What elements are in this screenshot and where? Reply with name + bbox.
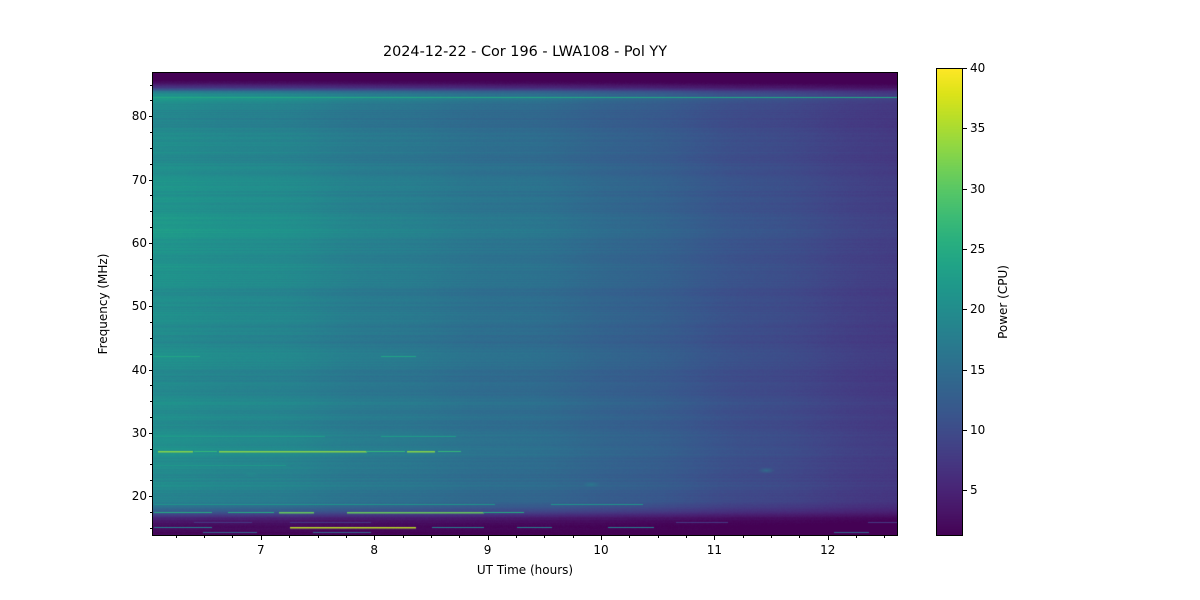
x-minor-tick bbox=[459, 536, 460, 538]
x-tick-label: 11 bbox=[707, 543, 722, 557]
colorbar-tick-mark bbox=[963, 128, 967, 129]
x-minor-tick bbox=[232, 536, 233, 538]
colorbar-tick-mark bbox=[963, 249, 967, 250]
x-minor-tick bbox=[573, 536, 574, 538]
colorbar-tick-mark bbox=[963, 490, 967, 491]
x-minor-tick bbox=[743, 536, 744, 538]
page-title: 2024-12-22 - Cor 196 - LWA108 - Pol YY bbox=[152, 44, 898, 60]
colorbar-tick-label: 5 bbox=[970, 483, 978, 497]
colorbar-tick-label: 30 bbox=[970, 182, 985, 196]
x-minor-tick bbox=[403, 536, 404, 538]
x-axis-label: UT Time (hours) bbox=[152, 563, 898, 577]
x-minor-tick bbox=[884, 536, 885, 538]
colorbar-tick-label: 40 bbox=[970, 61, 985, 75]
x-minor-tick bbox=[318, 536, 319, 538]
x-tick-mark bbox=[374, 536, 375, 540]
x-minor-tick bbox=[544, 536, 545, 538]
x-minor-tick bbox=[204, 536, 205, 538]
colorbar-tick-mark bbox=[963, 189, 967, 190]
colorbar-tick-label: 25 bbox=[970, 242, 985, 256]
colorbar-tick-mark bbox=[963, 309, 967, 310]
x-tick-label: 7 bbox=[257, 543, 265, 557]
x-tick-mark bbox=[488, 536, 489, 540]
colorbar-gradient bbox=[937, 69, 963, 536]
x-tick-label: 12 bbox=[820, 543, 835, 557]
y-tick-label: 50 bbox=[107, 299, 147, 313]
figure-canvas: 2024-12-22 - Cor 196 - LWA108 - Pol YY 2… bbox=[0, 0, 1200, 600]
spectrogram-axes[interactable] bbox=[152, 72, 898, 536]
x-tick-mark bbox=[714, 536, 715, 540]
colorbar-tick-mark bbox=[963, 68, 967, 69]
x-tick-mark bbox=[601, 536, 602, 540]
colorbar-tick-mark bbox=[963, 370, 967, 371]
y-tick-label: 30 bbox=[107, 426, 147, 440]
x-minor-tick bbox=[799, 536, 800, 538]
x-minor-tick bbox=[686, 536, 687, 538]
x-tick-mark bbox=[828, 536, 829, 540]
x-minor-tick bbox=[431, 536, 432, 538]
x-minor-tick bbox=[346, 536, 347, 538]
x-minor-tick bbox=[289, 536, 290, 538]
x-tick-label: 9 bbox=[484, 543, 492, 557]
colorbar[interactable] bbox=[936, 68, 963, 536]
colorbar-tick-mark bbox=[963, 430, 967, 431]
spectrogram-image[interactable] bbox=[153, 73, 898, 536]
y-tick-label: 20 bbox=[107, 489, 147, 503]
colorbar-tick-label: 35 bbox=[970, 121, 985, 135]
x-minor-tick bbox=[629, 536, 630, 538]
x-tick-mark bbox=[261, 536, 262, 540]
x-minor-tick bbox=[771, 536, 772, 538]
y-tick-label: 40 bbox=[107, 363, 147, 377]
y-axis-label: Frequency (MHz) bbox=[96, 254, 110, 355]
y-tick-label: 70 bbox=[107, 173, 147, 187]
x-minor-tick bbox=[176, 536, 177, 538]
colorbar-tick-label: 15 bbox=[970, 363, 985, 377]
y-tick-label: 60 bbox=[107, 236, 147, 250]
x-minor-tick bbox=[516, 536, 517, 538]
colorbar-label: Power (CPU) bbox=[996, 265, 1010, 339]
x-minor-tick bbox=[856, 536, 857, 538]
x-minor-tick bbox=[658, 536, 659, 538]
y-tick-label: 80 bbox=[107, 109, 147, 123]
x-tick-label: 8 bbox=[370, 543, 378, 557]
x-tick-label: 10 bbox=[593, 543, 608, 557]
colorbar-tick-label: 20 bbox=[970, 302, 985, 316]
colorbar-tick-label: 10 bbox=[970, 423, 985, 437]
